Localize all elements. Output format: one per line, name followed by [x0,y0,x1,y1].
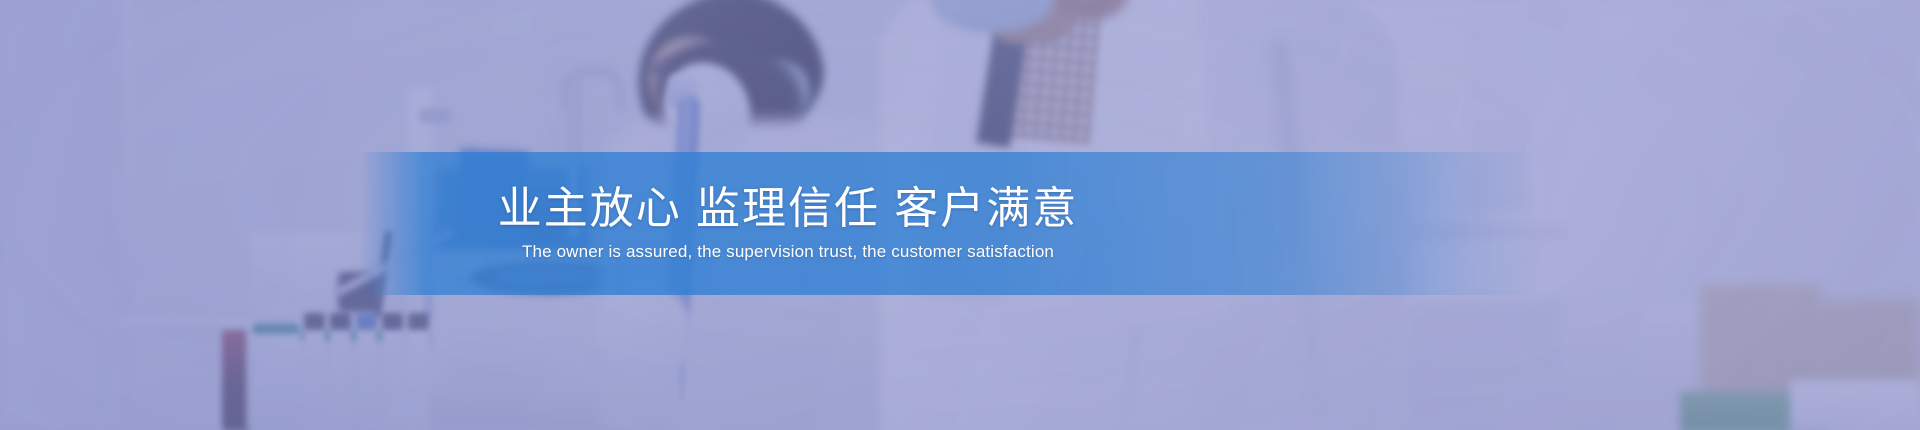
banner-headline: 业主放心 监理信任 客户满意 [498,184,1078,233]
water-bottle [246,322,302,430]
banner-text-block: 业主放心 监理信任 客户满意 The owner is assured, the… [0,152,1920,295]
reagent-vial [330,318,351,430]
centrifuge-panel [448,320,568,390]
white-bin [1790,380,1920,430]
reagent-vial-cap [356,313,377,330]
banner-subheadline: The owner is assured, the supervision tr… [522,242,1054,262]
water-bottle-ring [252,324,300,334]
reagent-vial [356,318,377,430]
reagent-vial [304,318,325,430]
hero-banner: 业主放心 监理信任 客户满意 The owner is assured, the… [0,0,1920,430]
reagent-vial-cap [330,313,351,330]
sash-handle [418,108,452,124]
reagent-vial-cap [304,313,325,330]
reagent-vial [382,318,403,430]
reagent-vial-cap [382,313,403,330]
reagent-vial [408,318,429,430]
reagent-vial-cap [408,313,429,330]
